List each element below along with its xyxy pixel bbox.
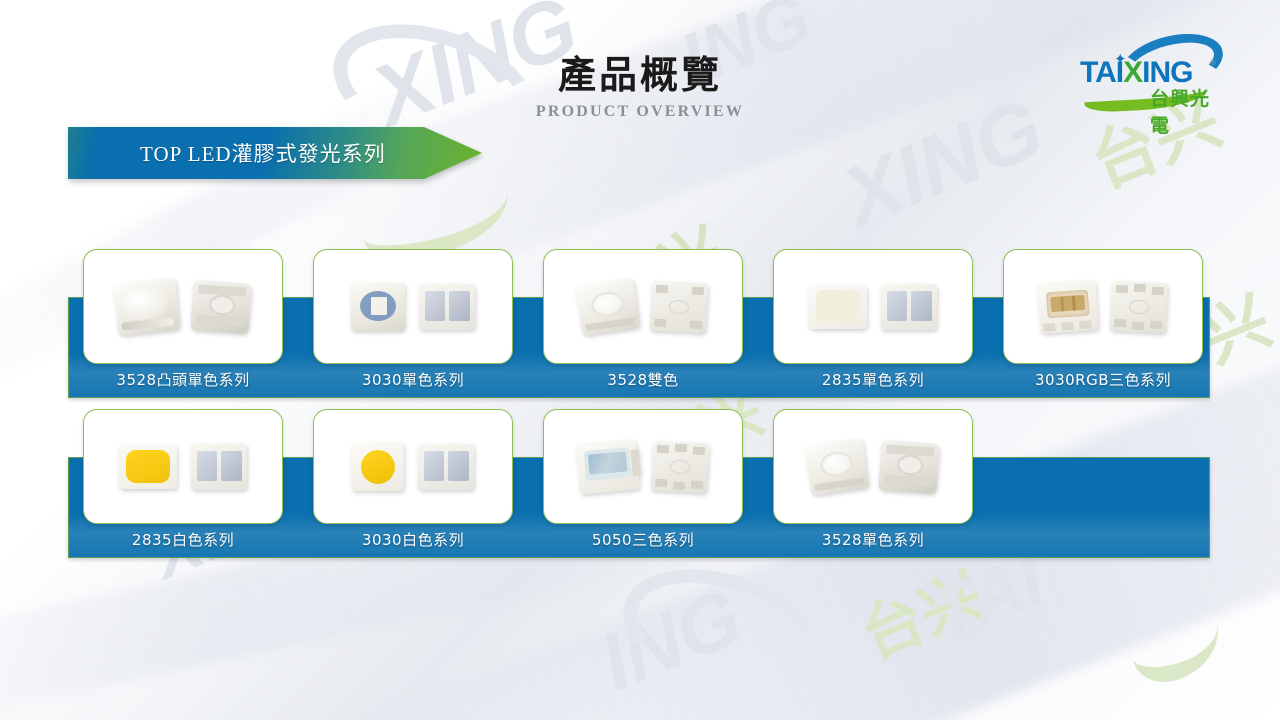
company-logo: ✦ TAIXING ® 台興光電 bbox=[1076, 36, 1226, 110]
product-card-label: 5050三色系列 bbox=[528, 529, 758, 550]
led-chip-front-icon bbox=[809, 285, 867, 329]
led-chip-back-icon bbox=[418, 444, 474, 490]
product-image-frame bbox=[83, 249, 283, 364]
led-chip-back-icon bbox=[651, 440, 710, 493]
product-image-frame bbox=[313, 409, 513, 524]
led-chip-front-icon bbox=[576, 439, 640, 494]
product-image-frame bbox=[543, 249, 743, 364]
logo-cjk-name: 台興光電 bbox=[1150, 84, 1226, 138]
product-image-frame bbox=[773, 249, 973, 364]
product-card[interactable]: 3030RGB三色系列 bbox=[988, 297, 1218, 364]
section-banner: TOP LED灌膠式發光系列 bbox=[68, 127, 482, 179]
led-chip-front-icon bbox=[351, 283, 405, 331]
led-chip-back-icon bbox=[1110, 280, 1169, 333]
led-chip-front-icon bbox=[805, 438, 869, 496]
product-card-label: 2835單色系列 bbox=[758, 369, 988, 390]
product-card[interactable]: 3528凸頭單色系列 bbox=[68, 297, 298, 364]
product-card[interactable]: 2835白色系列 bbox=[68, 457, 298, 524]
registered-mark-icon: ® bbox=[1210, 58, 1216, 67]
led-chip-back-icon bbox=[650, 280, 709, 333]
led-chip-front-icon bbox=[113, 277, 180, 335]
product-card[interactable]: 5050三色系列 bbox=[528, 457, 758, 524]
led-chip-front-icon bbox=[1037, 280, 1098, 334]
led-chip-back-icon bbox=[190, 280, 251, 334]
product-card-list: 2835白色系列 3030白色系列 5050三色系列 bbox=[68, 457, 988, 524]
section-banner-label: TOP LED灌膠式發光系列 bbox=[140, 138, 386, 168]
product-card-label: 3030白色系列 bbox=[298, 529, 528, 550]
led-chip-front-icon bbox=[119, 445, 177, 489]
product-card[interactable]: 3030單色系列 bbox=[298, 297, 528, 364]
led-chip-front-icon bbox=[576, 278, 640, 336]
product-card[interactable]: 3030白色系列 bbox=[298, 457, 528, 524]
led-chip-front-icon bbox=[352, 443, 404, 491]
led-chip-back-icon bbox=[878, 440, 939, 494]
product-card-label: 2835白色系列 bbox=[68, 529, 298, 550]
led-chip-back-icon bbox=[881, 284, 937, 330]
product-card[interactable]: 3528單色系列 bbox=[758, 457, 988, 524]
product-image-frame bbox=[1003, 249, 1203, 364]
product-card-label: 3030單色系列 bbox=[298, 369, 528, 390]
product-card[interactable]: 2835單色系列 bbox=[758, 297, 988, 364]
product-card-label: 3030RGB三色系列 bbox=[988, 369, 1218, 390]
product-card-list: 3528凸頭單色系列 3030單色系列 3528雙色 bbox=[68, 297, 1218, 364]
slide-canvas: XING ING 台兴 XING 台兴 ING 台兴 XING 台兴 TAI 台… bbox=[0, 0, 1280, 720]
product-card[interactable]: 3528雙色 bbox=[528, 297, 758, 364]
product-card-label: 3528凸頭單色系列 bbox=[68, 369, 298, 390]
section-banner-shape: TOP LED灌膠式發光系列 bbox=[68, 127, 482, 179]
watermark-swoosh bbox=[1124, 593, 1227, 687]
product-image-frame bbox=[83, 409, 283, 524]
led-chip-back-icon bbox=[419, 284, 475, 330]
product-image-frame bbox=[773, 409, 973, 524]
product-card-label: 3528雙色 bbox=[528, 369, 758, 390]
product-card-label: 3528單色系列 bbox=[758, 529, 988, 550]
product-image-frame bbox=[543, 409, 743, 524]
product-image-frame bbox=[313, 249, 513, 364]
led-chip-back-icon bbox=[191, 444, 247, 490]
